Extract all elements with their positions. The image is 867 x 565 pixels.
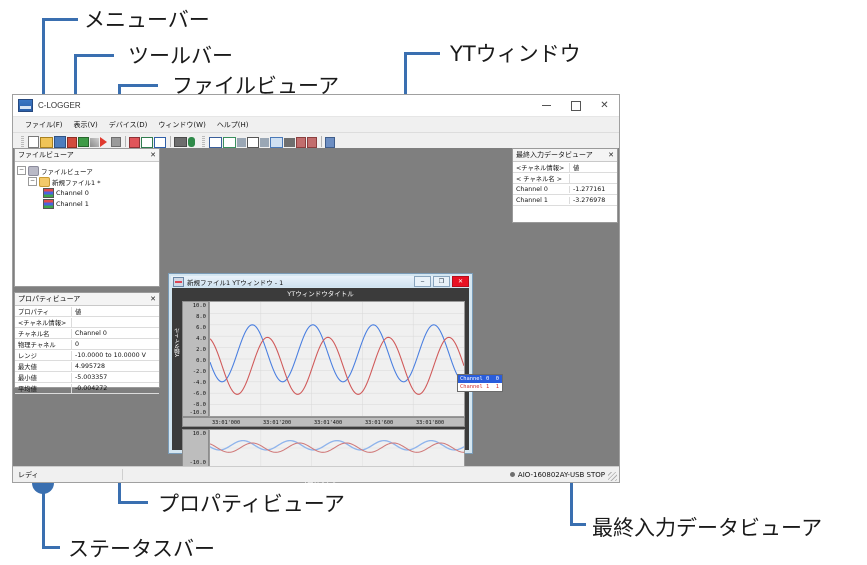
maximize-button[interactable] xyxy=(561,95,590,116)
leader-lastinput-h xyxy=(570,523,586,526)
overview-y-tick-label: 10.0 xyxy=(193,432,206,437)
lock-b-icon[interactable] xyxy=(307,137,317,148)
y-tick-label: 10.0 xyxy=(193,304,206,309)
y-tick-label: 6.0 xyxy=(196,326,206,331)
last-input-subheader: < チャネル名 > xyxy=(513,173,617,184)
tree-node-channel-0[interactable]: Channel 0 xyxy=(17,187,157,198)
toolbar-separator-3 xyxy=(321,136,322,147)
yt-minimize-glyph: – xyxy=(421,279,424,285)
table-row[interactable]: レンジ -10.0000 to 10.0000 V xyxy=(15,350,159,361)
status-separator xyxy=(122,469,123,480)
overview-series-channel-1 xyxy=(210,443,464,452)
bar-window-icon[interactable] xyxy=(223,137,236,148)
table-row[interactable]: 物理チャネル 0 xyxy=(15,339,159,350)
shrink-icon[interactable] xyxy=(260,138,269,147)
chart-title: YTウィンドウタイトル xyxy=(172,288,469,300)
file-tree: − ファイルビューア − 新規ファイル1 * Channel 0 Channel… xyxy=(15,162,159,212)
yt-window[interactable]: 新規ファイル1 YTウィンドウ - 1 – ❐ ✕ YTウィンドウタイトル Y軸… xyxy=(168,273,473,454)
tree-node-label: 新規ファイル1 * xyxy=(52,177,100,187)
table-row[interactable]: 最小値 -5.003357 xyxy=(15,372,159,383)
y-tick-label: -4.0 xyxy=(193,381,206,386)
toolbar-separator-2 xyxy=(170,136,171,147)
tile-vertical-icon[interactable] xyxy=(154,137,166,148)
marker-icon[interactable] xyxy=(67,137,77,148)
menu-item-file[interactable]: ファイル(F) xyxy=(25,120,63,130)
x-tick-label: 33:01'600 xyxy=(365,420,393,426)
last-input-grid-header: <チャネル情報> 値 xyxy=(513,162,617,173)
property-value: 4.995728 xyxy=(72,363,159,370)
yt-window-icon xyxy=(173,277,184,287)
channel-name: Channel 1 xyxy=(513,197,570,204)
yt-window-titlebar[interactable]: 新規ファイル1 YTウィンドウ - 1 – ❐ ✕ xyxy=(171,276,470,287)
overview-gridlines xyxy=(210,430,464,466)
y-tick-label: -6.0 xyxy=(193,392,206,397)
status-device-area: AIO-160802AY-USB STOP xyxy=(510,471,619,479)
annotation-label-lastinput: 最終入力データビューア xyxy=(592,512,822,542)
channel-name: Channel 0 xyxy=(513,186,570,193)
menu-bar: ファイル(F) 表示(V) デバイス(D) ウィンドウ(W) ヘルプ(H) xyxy=(13,117,619,133)
resize-grip[interactable] xyxy=(608,472,617,481)
last-input-data-viewer-panel: 最終入力データビューア ✕ <チャネル情報> 値 < チャネル名 > Chann… xyxy=(512,148,618,223)
new-file-icon[interactable] xyxy=(28,136,39,148)
yt-maximize-button[interactable]: ❐ xyxy=(433,276,450,287)
property-value: -0.004272 xyxy=(72,385,159,392)
legend-item-channel-1[interactable]: Channel 1 1 xyxy=(458,383,502,391)
table-row[interactable]: <チャネル情報> xyxy=(15,317,159,328)
chart-legend[interactable]: Channel 0 0 Channel 1 1 xyxy=(457,374,503,392)
property-name: 最小値 xyxy=(15,373,72,382)
channel-value: -1.277161 xyxy=(570,186,617,193)
print-icon[interactable] xyxy=(174,137,187,147)
property-value: -5.003357 xyxy=(72,374,159,381)
overview-plot-canvas[interactable] xyxy=(209,429,465,467)
yt-close-glyph: ✕ xyxy=(458,279,463,285)
chart-area: YTウィンドウタイトル Y軸タイトル 10.0 8.0 6.0 4.0 2.0 … xyxy=(172,288,469,450)
tree-node-label: Channel 1 xyxy=(56,200,89,208)
yt-maximize-glyph: ❐ xyxy=(439,279,444,285)
table-row[interactable]: 平均値 -0.004272 xyxy=(15,383,159,394)
leader-propertyviewer-h xyxy=(118,501,148,504)
menu-item-device[interactable]: デバイス(D) xyxy=(109,120,148,130)
table-row[interactable]: チャネル名 Channel 0 xyxy=(15,328,159,339)
application-window: C-LOGGER ✕ ファイル(F) 表示(V) デバイス(D) ウィンドウ(W… xyxy=(12,94,620,483)
property-viewer-title: プロパティビューア xyxy=(18,294,80,304)
channel-value: -3.276978 xyxy=(570,197,617,204)
property-value: 0 xyxy=(72,341,159,348)
menu-item-help[interactable]: ヘルプ(H) xyxy=(217,120,249,130)
lock-c-icon[interactable] xyxy=(325,137,335,148)
file-viewer-panel: ファイルビューア ✕ − ファイルビューア − 新規ファイル1 * Channe… xyxy=(14,148,160,287)
yt-window-controls: – ❐ ✕ xyxy=(414,276,470,287)
annotation-label-menubar: メニューバー xyxy=(84,4,210,34)
property-viewer-panel: プロパティビューア ✕ プロパティ 値 <チャネル情報> チャネル名 Chann… xyxy=(14,292,160,388)
y-tick-label: 8.0 xyxy=(196,315,206,320)
property-column-header-value: 値 xyxy=(72,307,159,316)
root-icon xyxy=(28,166,39,176)
open-file-icon[interactable] xyxy=(40,137,53,148)
property-name: 最大値 xyxy=(15,362,72,371)
table-row[interactable]: Channel 0 -1.277161 xyxy=(513,184,617,195)
y-tick-label: 4.0 xyxy=(196,337,206,342)
grid-icon[interactable] xyxy=(270,137,283,148)
waveform-icon[interactable] xyxy=(284,138,295,147)
tree-node-label: ファイルビューア xyxy=(41,166,93,176)
file-viewer-title: ファイルビューア xyxy=(18,150,74,160)
main-x-axis: 33:01'000 33:01'200 33:01'400 33:01'600 … xyxy=(182,417,465,427)
leader-menubar-h xyxy=(42,18,78,21)
x-tick-label: 33:01'200 xyxy=(263,420,291,426)
last-input-column-header-value: 値 xyxy=(570,163,617,172)
last-input-header: 最終入力データビューア ✕ xyxy=(513,149,617,162)
property-grid: プロパティ 値 <チャネル情報> チャネル名 Channel 0 物理チャネル … xyxy=(15,306,159,394)
menu-item-window[interactable]: ウィンドウ(W) xyxy=(158,120,205,130)
file-viewer-header: ファイルビューア ✕ xyxy=(15,149,159,162)
menu-item-view[interactable]: 表示(V) xyxy=(74,120,98,130)
leader-ytwindow-h xyxy=(404,52,440,55)
channel-icon xyxy=(43,188,54,198)
tree-expander-file[interactable]: − xyxy=(28,177,37,186)
mdi-client-area: ファイルビューア ✕ − ファイルビューア − 新規ファイル1 * Channe… xyxy=(13,148,619,466)
x-tick-label: 33:01'000 xyxy=(212,420,240,426)
leader-toolbar-h xyxy=(74,54,114,57)
x-tick-label: 33:01'400 xyxy=(314,420,342,426)
toolbar-grip-2[interactable] xyxy=(202,135,205,147)
file-viewer-close-icon[interactable]: ✕ xyxy=(150,151,156,159)
property-value: -10.0000 to 10.0000 V xyxy=(72,352,159,359)
property-name: レンジ xyxy=(15,351,72,360)
yt-window-title: 新規ファイル1 YTウィンドウ - 1 xyxy=(187,277,283,287)
overview-y-axis: 10.0 -10.0 xyxy=(182,429,209,467)
window-titlebar[interactable]: C-LOGGER ✕ xyxy=(13,95,619,117)
window-controls: ✕ xyxy=(532,95,619,116)
last-input-column-header-name: <チャネル情報> xyxy=(513,163,570,172)
main-plot-svg xyxy=(210,302,464,416)
annotation-label-toolbar: ツールバー xyxy=(128,40,233,70)
device-status-indicator-icon xyxy=(510,472,515,477)
series-line-channel-0 xyxy=(210,325,464,382)
folder-icon xyxy=(39,177,50,187)
tree-node-channel-1[interactable]: Channel 1 xyxy=(17,198,157,209)
series-line-channel-1 xyxy=(210,337,464,394)
tree-node-root[interactable]: − ファイルビューア xyxy=(17,165,157,176)
channel-icon xyxy=(43,199,54,209)
property-value: Channel 0 xyxy=(72,330,159,337)
y-tick-label: -8.0 xyxy=(193,403,206,408)
tile-horizontal-icon[interactable] xyxy=(141,137,153,148)
overview-plot-svg xyxy=(210,430,464,466)
tree-node-label: Channel 0 xyxy=(56,189,89,197)
play-icon[interactable] xyxy=(100,137,107,147)
save-file-icon[interactable] xyxy=(54,136,66,148)
property-name: <チャネル情報> xyxy=(15,318,72,327)
y-tick-label: -10.0 xyxy=(189,411,206,416)
legend-index: 0 xyxy=(496,376,502,382)
property-name: チャネル名 xyxy=(15,329,72,338)
y-axis-title: Y軸タイトル xyxy=(174,328,182,357)
overview-series-channel-0 xyxy=(210,441,464,450)
y-tick-label: 0.0 xyxy=(196,359,206,364)
tree-node-file[interactable]: − 新規ファイル1 * xyxy=(17,176,157,187)
minimize-button[interactable] xyxy=(532,95,561,116)
expand-icon[interactable] xyxy=(247,137,259,148)
yt-minimize-button[interactable]: – xyxy=(414,276,431,287)
main-y-axis: 10.0 8.0 6.0 4.0 2.0 0.0 -2.0 -4.0 -6.0 … xyxy=(182,301,209,417)
about-icon[interactable] xyxy=(188,137,195,147)
y-tick-label: 2.0 xyxy=(196,348,206,353)
y-tick-label: -2.0 xyxy=(193,370,206,375)
yt-window-icon[interactable] xyxy=(209,137,222,148)
legend-index: 1 xyxy=(496,384,502,390)
table-row[interactable]: Channel 1 -3.276978 xyxy=(513,195,617,206)
leader-statusbar-h xyxy=(42,546,60,549)
last-input-close-icon[interactable]: ✕ xyxy=(608,151,614,159)
annotation-label-ytwindow: YTウィンドウ xyxy=(450,38,581,68)
plot-gridlines xyxy=(210,302,464,416)
property-grid-header: プロパティ 値 xyxy=(15,306,159,317)
device-status-text: AIO-160802AY-USB STOP xyxy=(518,471,605,479)
yt-close-button[interactable]: ✕ xyxy=(452,276,469,287)
property-name: 平均値 xyxy=(15,384,72,393)
property-name: 物理チャネル xyxy=(15,340,72,349)
property-viewer-close-icon[interactable]: ✕ xyxy=(150,295,156,303)
stop-icon[interactable] xyxy=(111,137,121,147)
toolbar-separator-1 xyxy=(125,136,126,147)
status-bar: レディ AIO-160802AY-USB STOP xyxy=(13,466,619,482)
lock-a-icon[interactable] xyxy=(296,137,306,148)
annotation-label-statusbar: ステータスバー xyxy=(68,533,215,563)
close-button[interactable]: ✕ xyxy=(590,95,619,116)
settings-icon[interactable] xyxy=(90,138,99,147)
last-input-title: 最終入力データビューア xyxy=(516,150,593,160)
main-plot-canvas[interactable] xyxy=(209,301,465,417)
x-tick-label: 33:01'800 xyxy=(416,420,444,426)
legend-label: Channel 1 xyxy=(460,384,489,390)
move-icon[interactable] xyxy=(237,138,246,147)
property-viewer-header: プロパティビューア ✕ xyxy=(15,293,159,306)
tree-expander-root[interactable]: − xyxy=(17,166,26,175)
status-message: レディ xyxy=(13,470,39,480)
cascade-icon[interactable] xyxy=(129,137,140,148)
leader-fileviewer-h xyxy=(118,84,158,87)
app-logo-icon xyxy=(18,99,33,112)
legend-item-channel-0[interactable]: Channel 0 0 xyxy=(458,375,502,383)
legend-label: Channel 0 xyxy=(460,376,489,382)
app-title: C-LOGGER xyxy=(38,101,81,110)
property-column-header-name: プロパティ xyxy=(15,307,72,316)
last-input-subheader-label: < チャネル名 > xyxy=(513,174,570,183)
annotation-label-propertyviewer: プロパティビューア xyxy=(158,488,345,518)
last-input-grid: <チャネル情報> 値 < チャネル名 > Channel 0 -1.277161… xyxy=(513,162,617,206)
toolbar-grip[interactable] xyxy=(21,135,24,147)
table-row[interactable]: 最大値 4.995728 xyxy=(15,361,159,372)
start-record-icon[interactable] xyxy=(78,137,89,147)
